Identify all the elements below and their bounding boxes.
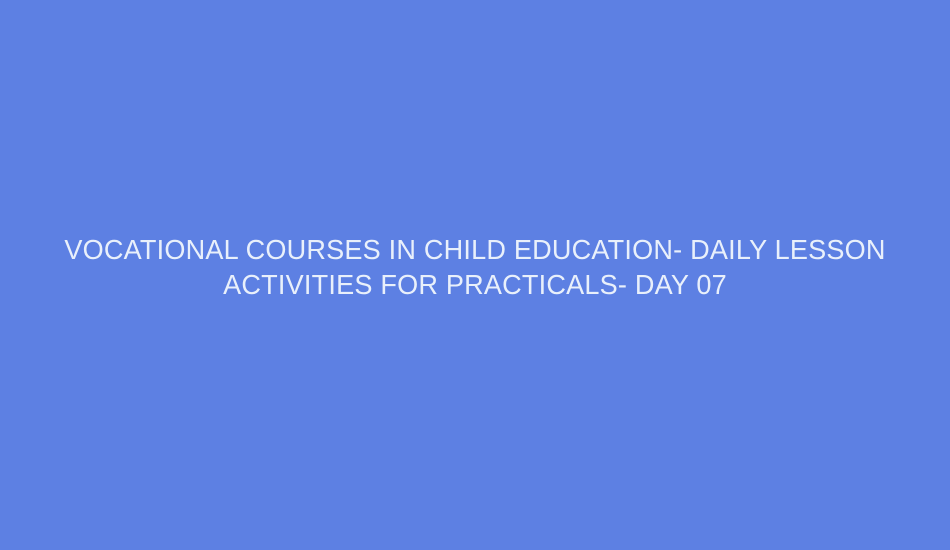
title-card: VOCATIONAL COURSES IN CHILD EDUCATION- D…	[0, 0, 950, 550]
page-title: VOCATIONAL COURSES IN CHILD EDUCATION- D…	[61, 232, 888, 302]
title-block: VOCATIONAL COURSES IN CHILD EDUCATION- D…	[55, 232, 895, 302]
